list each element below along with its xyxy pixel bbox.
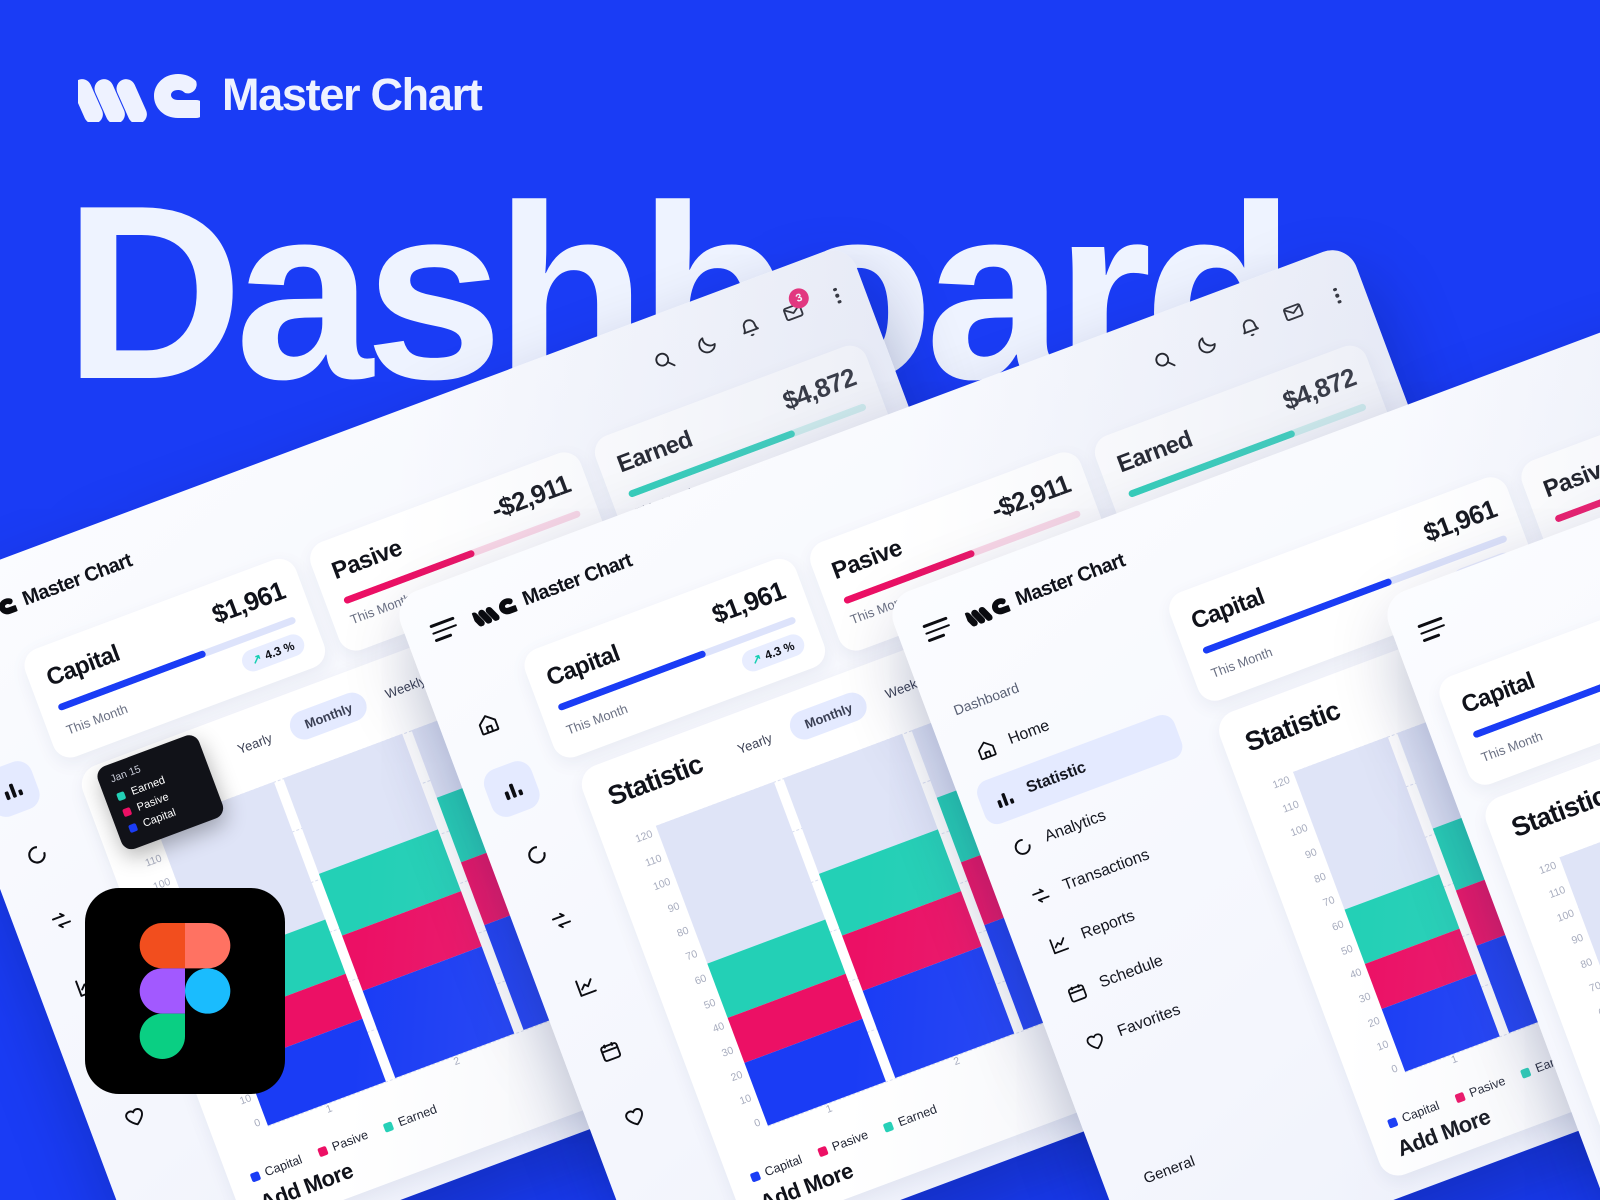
sidebar-item-home[interactable] [455, 691, 519, 755]
mock1-logo-text: Master Chart [19, 549, 135, 611]
sidebar-item-label: General [1141, 1152, 1197, 1187]
statistic-title: Statistic [1241, 695, 1344, 759]
bell-icon[interactable] [736, 314, 764, 342]
sidebar-item-analytics[interactable] [4, 822, 68, 886]
tab-monthly[interactable]: Monthly [286, 688, 371, 743]
reports-icon [1045, 930, 1072, 957]
tab-monthly[interactable]: Monthly [786, 688, 871, 743]
master-chart-logo-icon [470, 594, 518, 628]
master-chart-logo-icon [963, 594, 1011, 628]
mock3-logo: Master Chart [963, 549, 1128, 629]
more-vertical-icon[interactable] [833, 287, 842, 304]
kpi-delta: 4.3 % [763, 639, 797, 663]
search-icon[interactable] [1150, 346, 1178, 374]
more-vertical-icon[interactable] [1333, 287, 1342, 304]
legend-item-earned: Earned [382, 1102, 439, 1134]
sidebar-item-reports[interactable] [553, 954, 617, 1018]
sidebar-item-home[interactable] [0, 691, 19, 755]
figma-logo-icon [139, 923, 231, 1059]
sidebar-item-favorites[interactable] [102, 1085, 166, 1149]
trend-up-icon: ↗ [750, 651, 764, 668]
statistic-title: Statistic [1507, 780, 1600, 844]
hamburger-menu-icon[interactable] [922, 616, 953, 642]
moon-icon[interactable] [693, 330, 721, 358]
mail-icon[interactable] [1279, 298, 1307, 326]
sidebar-item-analytics[interactable] [504, 822, 568, 886]
tab-yearly[interactable]: Yearly [719, 718, 791, 768]
sidebar-item-label: Reports [1079, 907, 1138, 943]
hamburger-menu-icon[interactable] [1417, 616, 1448, 642]
mock2-logo: Master Chart [470, 549, 635, 629]
mock2-logo-text: Master Chart [519, 549, 635, 611]
sidebar-item-favorites[interactable] [602, 1085, 666, 1149]
transactions-icon [1027, 882, 1054, 909]
mail-icon[interactable]: 3 [779, 298, 807, 326]
sidebar-item-label: Transactions [1061, 846, 1153, 895]
mock3-logo-text: Master Chart [1012, 549, 1128, 611]
legend-item-pasive: Pasive [316, 1128, 370, 1160]
legend-item-pasive: Pasive [816, 1128, 870, 1160]
sidebar-item-label: Analytics [1042, 807, 1108, 846]
kpi-title: Pasive [1540, 453, 1600, 505]
sidebar-item-label: Schedule [1097, 952, 1166, 992]
hamburger-menu-icon[interactable] [429, 616, 460, 642]
legend-item-pasive: Pasive [1453, 1074, 1507, 1106]
sidebar-item-label: Home [1006, 717, 1052, 749]
legend-item-earned: Earned [882, 1102, 939, 1134]
home-icon [973, 736, 1000, 763]
moon-icon[interactable] [1193, 330, 1221, 358]
sidebar-item-label: Statistic [1024, 759, 1089, 798]
calendar-icon [1064, 979, 1091, 1006]
search-icon[interactable] [650, 346, 678, 374]
bell-icon[interactable] [1236, 314, 1264, 342]
sidebar-item-statistic[interactable] [0, 757, 44, 821]
trend-up-icon: ↗ [250, 651, 264, 668]
sidebar-footer: General Settings [1115, 1092, 1348, 1200]
bar-chart-icon [991, 784, 1018, 811]
heart-icon [1082, 1028, 1109, 1055]
statistic-title: Statistic [604, 749, 707, 813]
poster-stage: Master Chart Dashboard Master Chart [0, 0, 1600, 1200]
sidebar-item-statistic[interactable] [480, 757, 544, 821]
tab-yearly[interactable]: Yearly [219, 718, 291, 768]
sidebar-item-label: Favorites [1115, 1001, 1183, 1041]
mock1-logo: Master Chart [0, 549, 135, 629]
sidebar-item-transactions[interactable] [529, 888, 593, 952]
donut-chart-icon [1009, 833, 1036, 860]
figma-logo-badge [85, 888, 285, 1094]
kpi-delta: 4.3 % [263, 639, 297, 663]
sidebar-item-schedule[interactable] [578, 1019, 642, 1083]
master-chart-logo-icon [0, 594, 18, 628]
sidebar-item-transactions[interactable] [29, 888, 93, 952]
